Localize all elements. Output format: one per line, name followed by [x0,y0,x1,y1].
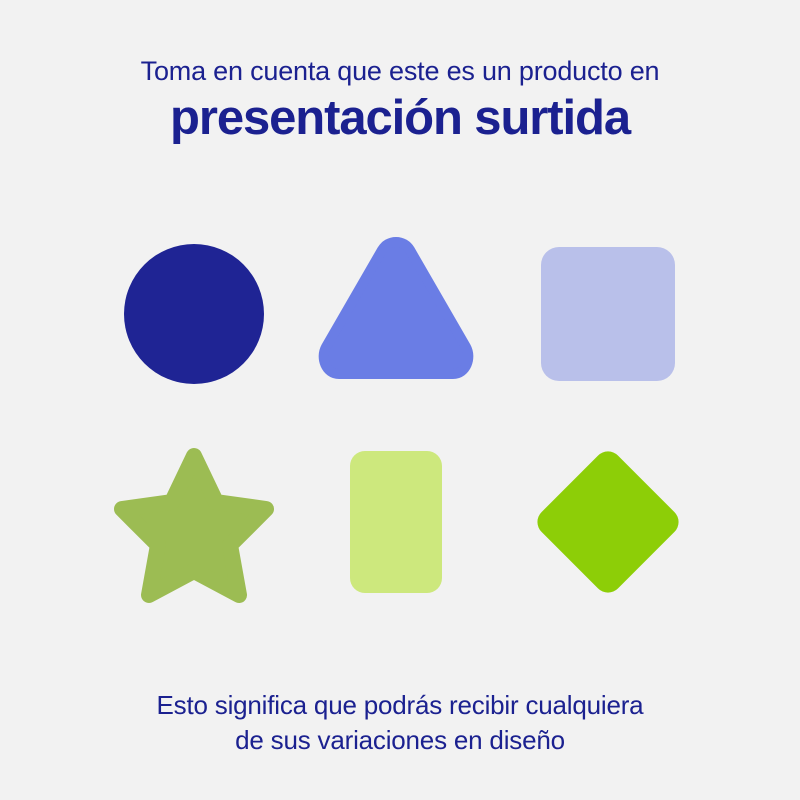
circle-icon [114,234,274,394]
diamond-icon [523,437,693,607]
headline-line-2: presentación surtida [0,94,800,143]
shape-cell-rounded-square [508,224,708,404]
diamond-shape [532,446,685,599]
triangle-icon [316,234,476,394]
shape-cell-diamond [508,432,708,612]
headline-block: Toma en cuenta que este es un producto e… [0,58,800,143]
assorted-presentation-poster: Toma en cuenta que este es un producto e… [0,0,800,800]
rounded-rectangle-icon [316,442,476,602]
shapes-grid [0,214,800,634]
rounded-square-shape [541,247,675,381]
footer-line-2: de sus variaciones en diseño [0,723,800,758]
shape-cell-star [94,432,294,612]
headline-line-1: Toma en cuenta que este es un producto e… [0,58,800,85]
shape-cell-rounded-rectangle [296,432,496,612]
shape-cell-circle [94,224,294,404]
rounded-rectangle-shape [350,451,442,593]
rounded-square-icon [528,234,688,394]
circle-shape [124,244,264,384]
shape-cell-triangle [296,224,496,404]
star-icon [109,442,279,602]
footer-block: Esto significa que podrás recibir cualqu… [0,688,800,757]
star-shape [122,456,266,595]
footer-line-1: Esto significa que podrás recibir cualqu… [0,688,800,723]
triangle-shape [324,242,469,374]
